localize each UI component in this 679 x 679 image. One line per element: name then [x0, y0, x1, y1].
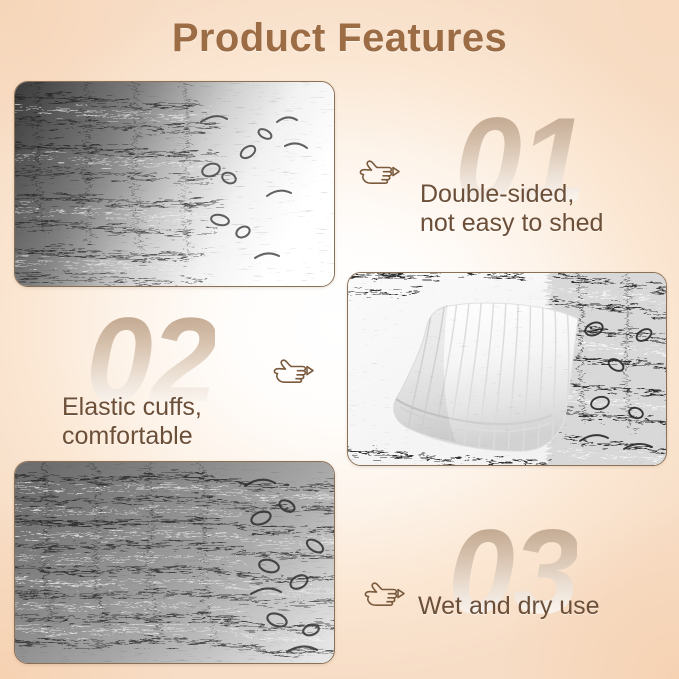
- feature-photo-2: [347, 272, 667, 466]
- feature-photo-1: [14, 81, 335, 287]
- feature-caption-3: Wet and dry use: [418, 592, 600, 621]
- infographic-page: Product Features: [0, 0, 679, 679]
- pointing-hand-right-icon: [271, 352, 315, 392]
- pointing-hand-right-icon: [357, 153, 401, 193]
- feature-caption-2: Elastic cuffs, comfortable: [62, 393, 202, 451]
- feature-caption-1: Double-sided, not easy to shed: [420, 180, 603, 238]
- pointing-hand-right-icon: [362, 575, 406, 615]
- page-title: Product Features: [0, 16, 679, 61]
- feature-photo-3: [14, 461, 335, 664]
